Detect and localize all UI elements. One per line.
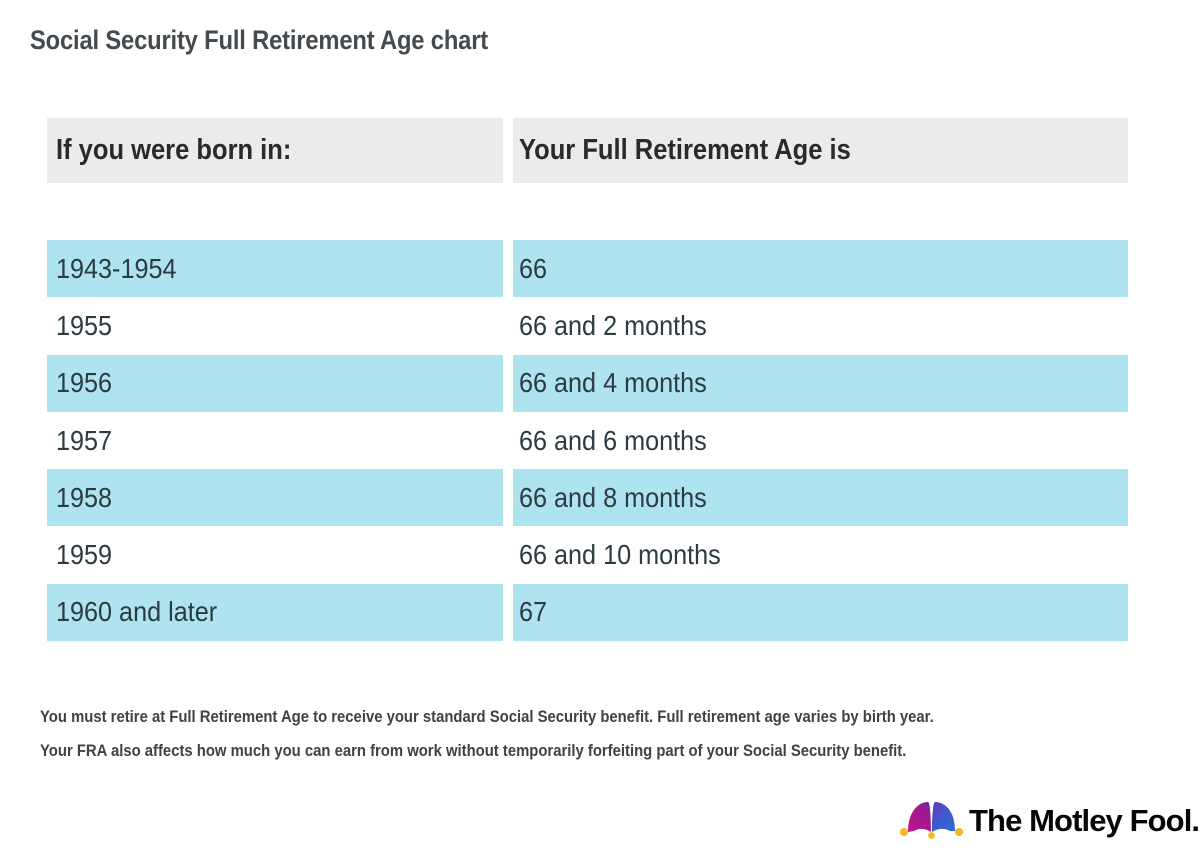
- table-row: 1959 66 and 10 months: [47, 526, 1128, 583]
- cell-born-year: 1955: [47, 297, 503, 354]
- cell-text-born: 1958: [56, 482, 112, 514]
- row-column-divider: [503, 526, 513, 583]
- cell-text-fra: 66 and 10 months: [519, 539, 721, 571]
- cell-born-year: 1956: [47, 355, 503, 412]
- cell-text-fra: 66 and 6 months: [519, 425, 707, 457]
- row-column-divider: [503, 355, 513, 412]
- table-row: 1955 66 and 2 months: [47, 297, 1128, 354]
- cell-born-year: 1959: [47, 526, 503, 583]
- cell-text-born: 1943-1954: [56, 253, 177, 285]
- cell-text-born: 1956: [56, 367, 112, 399]
- cell-retirement-age: 66 and 6 months: [513, 412, 1128, 469]
- cell-text-fra: 66 and 2 months: [519, 310, 707, 342]
- table-column-divider: [503, 118, 513, 183]
- cell-retirement-age: 67: [513, 584, 1128, 641]
- cell-retirement-age: 66: [513, 240, 1128, 297]
- motley-fool-logo: The Motley Fool.: [898, 795, 1168, 845]
- table-header-cell-fra: Your Full Retirement Age is: [513, 118, 1128, 183]
- cell-text-fra: 66 and 8 months: [519, 482, 707, 514]
- jester-hat-icon: [898, 798, 966, 842]
- page-title: Social Security Full Retirement Age char…: [30, 25, 998, 56]
- footnote-line-2: Your FRA also affects how much you can e…: [40, 734, 1030, 768]
- table-row: 1960 and later 67: [47, 584, 1128, 641]
- cell-born-year: 1957: [47, 412, 503, 469]
- cell-text-born: 1955: [56, 310, 112, 342]
- logo-wordmark: The Motley Fool.: [969, 803, 1199, 839]
- footnote-line-1: You must retire at Full Retirement Age t…: [40, 700, 1030, 734]
- table-row: 1956 66 and 4 months: [47, 355, 1128, 412]
- table-header-row: If you were born in: Your Full Retiremen…: [47, 118, 1128, 183]
- table-row: 1958 66 and 8 months: [47, 469, 1128, 526]
- cell-retirement-age: 66 and 10 months: [513, 526, 1128, 583]
- row-column-divider: [503, 240, 513, 297]
- cell-text-fra: 66: [519, 253, 547, 285]
- cell-text-born: 1960 and later: [56, 596, 217, 628]
- table-header-cell-born: If you were born in:: [47, 118, 503, 183]
- full-retirement-age-table: If you were born in: Your Full Retiremen…: [47, 118, 1128, 641]
- table-header-label-fra: Your Full Retirement Age is: [519, 134, 851, 167]
- cell-born-year: 1943-1954: [47, 240, 503, 297]
- cell-born-year: 1960 and later: [47, 584, 503, 641]
- row-column-divider: [503, 469, 513, 526]
- cell-born-year: 1958: [47, 469, 503, 526]
- row-column-divider: [503, 584, 513, 641]
- cell-text-born: 1957: [56, 425, 112, 457]
- cell-text-fra: 66 and 4 months: [519, 367, 707, 399]
- table-header-label-born: If you were born in:: [56, 134, 291, 167]
- row-column-divider: [503, 297, 513, 354]
- cell-text-born: 1959: [56, 539, 112, 571]
- cell-retirement-age: 66 and 4 months: [513, 355, 1128, 412]
- table-row: 1957 66 and 6 months: [47, 412, 1128, 469]
- cell-text-fra: 67: [519, 596, 547, 628]
- footnote: You must retire at Full Retirement Age t…: [40, 700, 1140, 768]
- row-column-divider: [503, 412, 513, 469]
- cell-retirement-age: 66 and 2 months: [513, 297, 1128, 354]
- table-row: 1943-1954 66: [47, 240, 1128, 297]
- cell-retirement-age: 66 and 8 months: [513, 469, 1128, 526]
